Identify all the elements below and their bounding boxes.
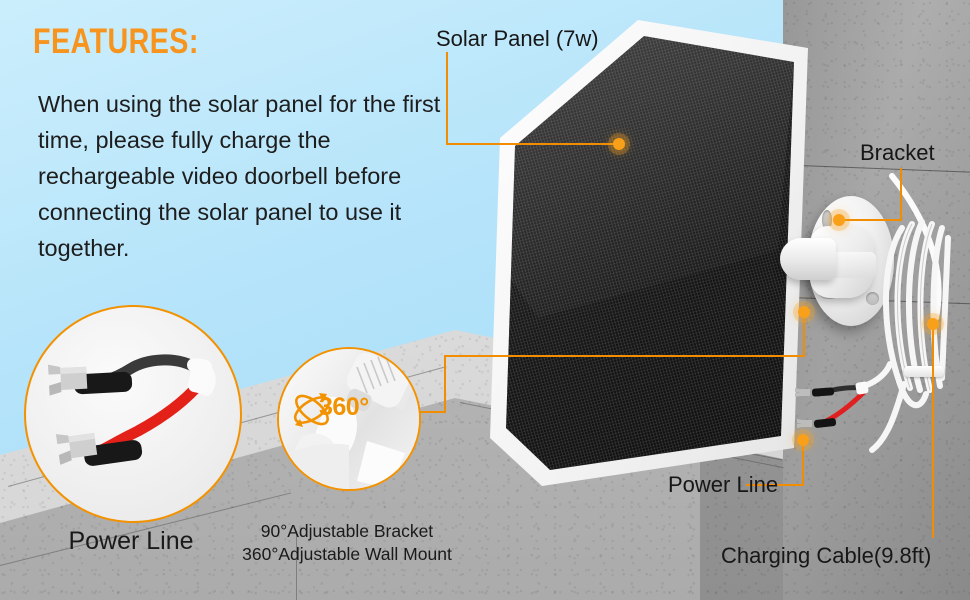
marker-dot-charging-cable	[927, 318, 939, 330]
features-heading: FEATURES:	[33, 22, 199, 62]
leader-mount-horizontal-b	[444, 355, 805, 357]
rotation-badge-text: 360°	[319, 393, 369, 422]
inset-rotation-closeup: 360°	[277, 347, 421, 491]
leader-bracket-horizontal	[838, 219, 902, 221]
inset-caption-power-line: Power Line	[24, 527, 238, 556]
marker-dot-power-line	[797, 434, 809, 446]
leader-mount-vertical-b	[803, 312, 805, 357]
callout-label-bracket: Bracket	[860, 140, 935, 166]
bracket-locking-tab	[830, 252, 876, 278]
leader-solar-panel-horizontal	[446, 143, 618, 145]
infographic-canvas: FEATURES: When using the solar panel for…	[0, 0, 970, 600]
inset-caption-rotation-line2: 360°Adjustable Wall Mount	[237, 543, 457, 566]
bracket-screw-hole-side	[866, 292, 879, 305]
cable-tie	[904, 366, 944, 377]
solar-panel-product	[478, 18, 808, 488]
rotation-360-icon: 360°	[289, 387, 375, 433]
marker-dot-bracket	[833, 214, 845, 226]
bracket-arm	[780, 238, 836, 280]
leader-mount-vertical-a	[444, 355, 446, 413]
callout-label-charging-cable: Charging Cable(9.8ft)	[721, 543, 931, 569]
power-line-closeup-graphic	[26, 307, 240, 521]
marker-dot-ball-joint	[798, 306, 810, 318]
leader-bracket-vertical	[900, 168, 902, 220]
marker-dot-solar-panel	[613, 138, 625, 150]
inset-power-line-closeup	[24, 305, 242, 523]
features-body-text: When using the solar panel for the first…	[38, 86, 453, 266]
callout-label-solar-panel: Solar Panel (7w)	[436, 26, 599, 52]
leader-charging-cable-vertical	[932, 322, 934, 538]
solar-panel-cells	[478, 18, 808, 488]
leader-powerline-vertical	[802, 440, 804, 486]
callout-label-power-line: Power Line	[668, 472, 778, 498]
inset-caption-rotation-line1: 90°Adjustable Bracket	[237, 520, 457, 543]
